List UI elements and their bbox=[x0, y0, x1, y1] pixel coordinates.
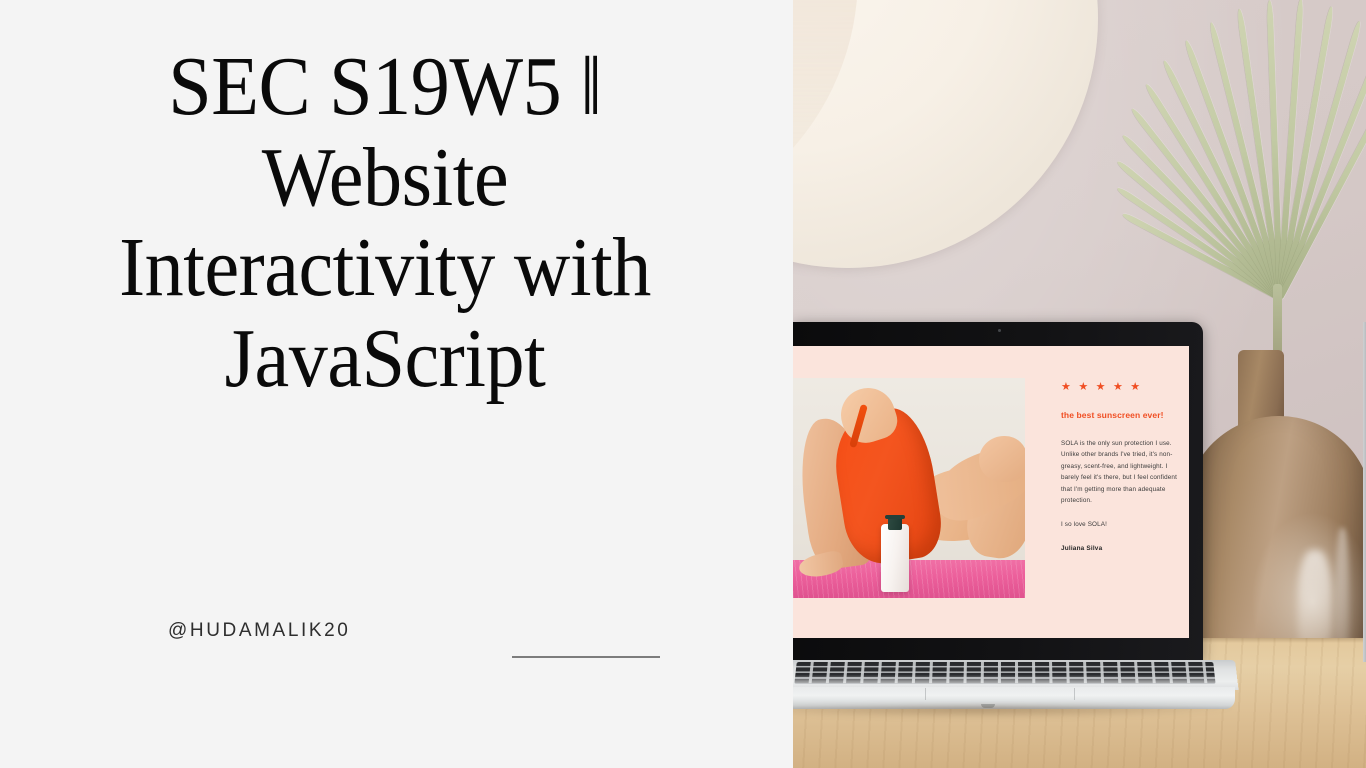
model-knee bbox=[979, 436, 1025, 482]
sunscreen-bottle bbox=[881, 524, 909, 592]
scene-photo-panel: ★ ★ ★ ★ ★ the best sunscreen ever! SOLA … bbox=[793, 0, 1366, 768]
sunscreen-pump-nozzle bbox=[885, 515, 905, 519]
laptop-lid: ★ ★ ★ ★ ★ the best sunscreen ever! SOLA … bbox=[793, 322, 1203, 662]
testimonial-heading: the best sunscreen ever! bbox=[1061, 410, 1179, 422]
laptop-base bbox=[793, 660, 1235, 712]
testimonial-body: SOLA is the only sun protection I use. U… bbox=[1061, 438, 1179, 507]
title-line-4: JavaScript bbox=[27, 314, 743, 405]
star-rating-icons: ★ ★ ★ ★ ★ bbox=[1061, 382, 1179, 393]
laptop-screen: ★ ★ ★ ★ ★ the best sunscreen ever! SOLA … bbox=[793, 346, 1189, 638]
testimonial-closing: I so love SOLA! bbox=[1061, 519, 1179, 530]
page-title: SEC S19W5 ‖ Website Interactivity with J… bbox=[27, 42, 743, 405]
testimonial-block: ★ ★ ★ ★ ★ the best sunscreen ever! SOLA … bbox=[1061, 382, 1179, 552]
title-line-1: SEC S19W5 ‖ bbox=[27, 42, 743, 133]
poster-canvas: SEC S19W5 ‖ Website Interactivity with J… bbox=[0, 0, 1366, 768]
testimonial-author: Juliana Silva bbox=[1061, 545, 1179, 552]
author-handle: @HUDAMALIK20 bbox=[168, 620, 350, 642]
laptop-keyboard-deck bbox=[793, 660, 1239, 690]
laptop: ★ ★ ★ ★ ★ the best sunscreen ever! SOLA … bbox=[793, 0, 1366, 768]
left-text-panel: SEC S19W5 ‖ Website Interactivity with J… bbox=[0, 0, 793, 768]
laptop-shadow bbox=[793, 706, 1233, 718]
divider-line bbox=[512, 656, 660, 658]
trackpad-seam bbox=[925, 688, 1075, 700]
keyboard-key-rows bbox=[794, 662, 1215, 684]
webcam-icon bbox=[998, 329, 1001, 332]
product-photo bbox=[793, 378, 1025, 598]
title-line-2: Website bbox=[27, 133, 743, 224]
title-line-3: Interactivity with bbox=[27, 223, 743, 314]
